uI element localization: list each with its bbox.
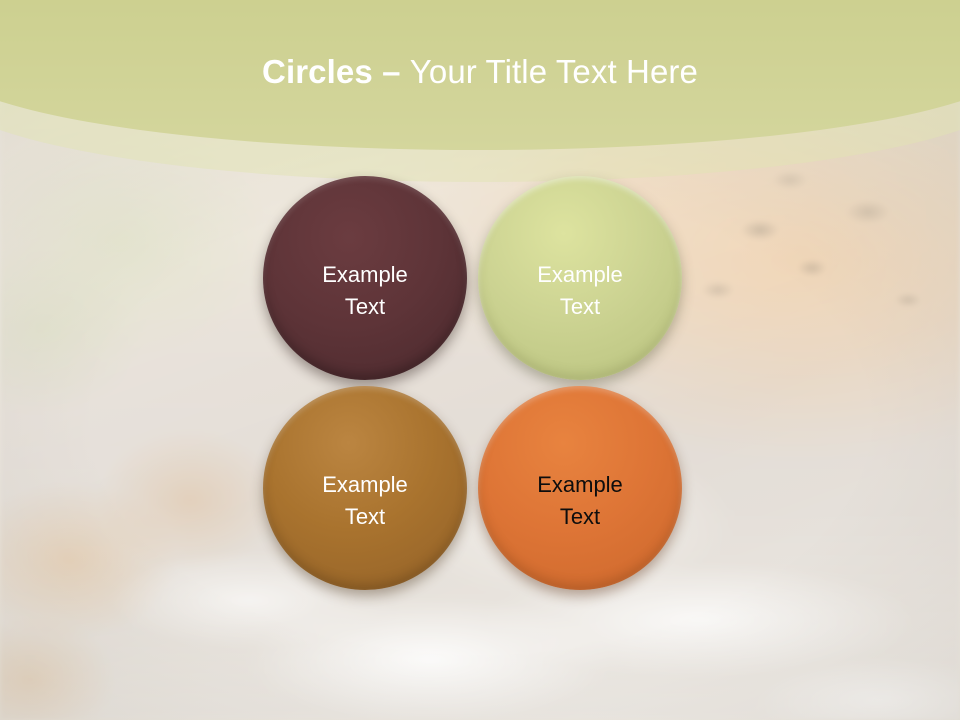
circle-top-left[interactable]: Example Text <box>263 176 467 380</box>
circle-bottom-left[interactable]: Example Text <box>263 386 467 590</box>
circle-top-left-line2: Text <box>345 294 385 319</box>
circle-bottom-left-label: Example Text <box>322 443 408 533</box>
slide-title: Circles – Your Title Text Here <box>0 52 960 92</box>
circle-top-right-line1: Example <box>537 262 623 287</box>
circle-top-left-line1: Example <box>322 262 408 287</box>
circle-top-right-line2: Text <box>560 294 600 319</box>
circle-bottom-right-line1: Example <box>537 472 623 497</box>
circle-bottom-right-label: Example Text <box>537 443 623 533</box>
slide-title-bold-part: Circles – <box>262 53 410 90</box>
circle-bottom-left-line1: Example <box>322 472 408 497</box>
slide-canvas: Circles – Your Title Text Here Example T… <box>0 0 960 720</box>
circle-top-right-label: Example Text <box>537 233 623 323</box>
circle-top-left-label: Example Text <box>322 233 408 323</box>
circle-bottom-right[interactable]: Example Text <box>478 386 682 590</box>
circle-diagram: Example Text Example Text Example Text E… <box>0 0 960 720</box>
circle-bottom-left-line2: Text <box>345 504 385 529</box>
circle-top-right[interactable]: Example Text <box>478 176 682 380</box>
slide-title-light-part: Your Title Text Here <box>410 53 698 90</box>
circle-bottom-right-line2: Text <box>560 504 600 529</box>
